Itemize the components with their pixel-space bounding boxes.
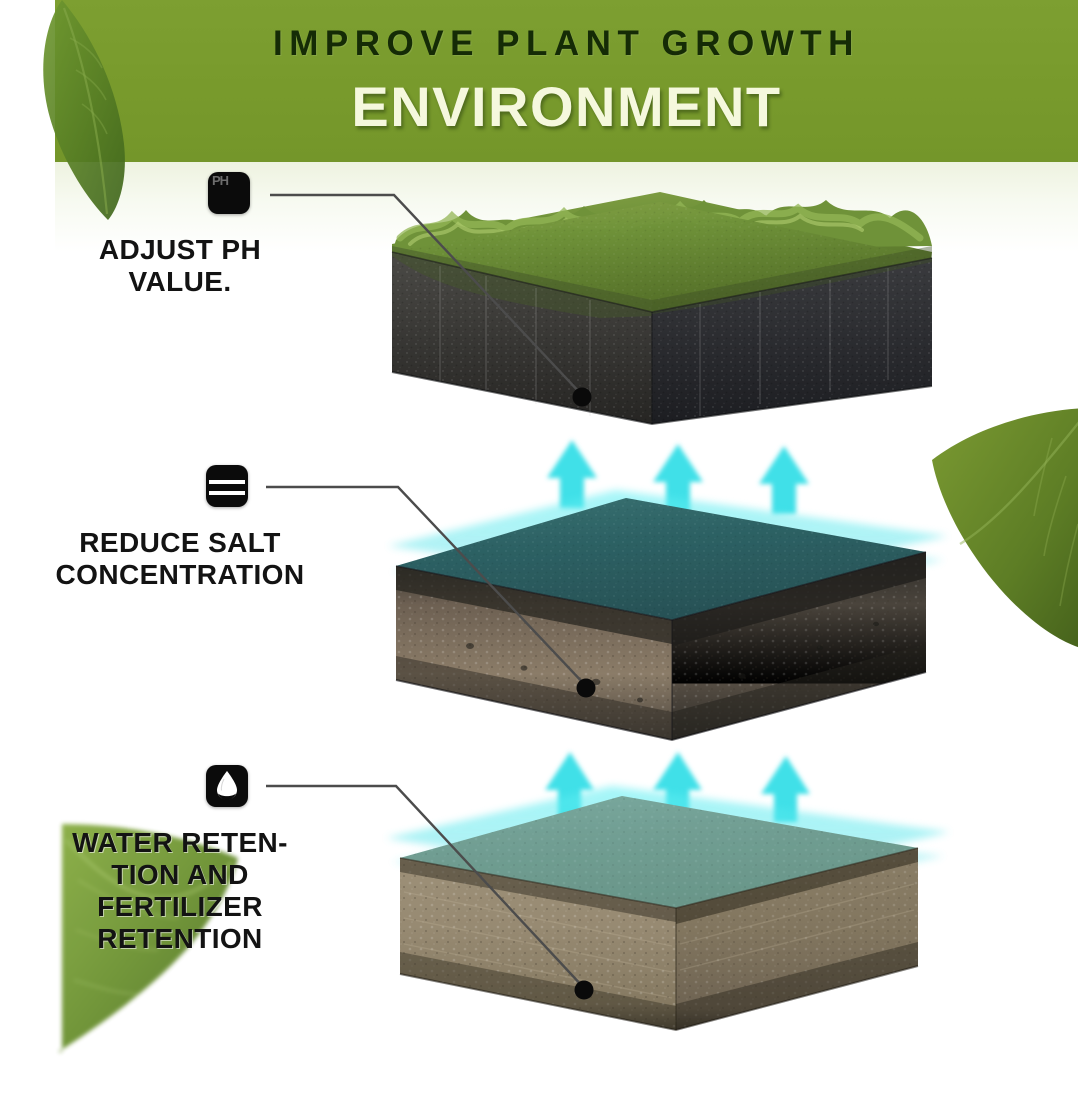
block-adjust-ph bbox=[392, 192, 932, 424]
cyan-arrows-lower bbox=[545, 752, 810, 822]
header-subtitle: IMPROVE PLANT GROWTH bbox=[55, 24, 1078, 64]
ph-icon[interactable]: PH bbox=[208, 172, 250, 214]
leader-line-reduce-salt bbox=[266, 487, 596, 698]
header-title: ENVIRONMENT bbox=[55, 74, 1078, 139]
layers-icon[interactable] bbox=[206, 465, 248, 507]
water-drop-glyph bbox=[215, 770, 239, 801]
label-text-water-retention: WATER RETEN- TION AND FERTILIZER RETENTI… bbox=[0, 827, 360, 955]
layers-icon-bars bbox=[209, 473, 245, 499]
label-text-reduce-salt: REDUCE SALT CONCENTRATION bbox=[0, 527, 360, 591]
infographic-page: IMPROVE PLANT GROWTH ENVIRONMENT bbox=[0, 0, 1078, 1113]
leader-line-adjust-ph bbox=[270, 195, 592, 407]
block-water-retention bbox=[386, 786, 950, 1030]
ph-icon-glyph: PH bbox=[212, 173, 228, 188]
label-text-adjust-ph: ADJUST PH VALUE. bbox=[0, 234, 360, 298]
cyan-arrows-upper bbox=[547, 440, 809, 514]
header-band: IMPROVE PLANT GROWTH ENVIRONMENT bbox=[55, 0, 1078, 162]
water-drop-icon[interactable] bbox=[206, 765, 248, 807]
leaf-icon-right bbox=[902, 398, 1078, 668]
block-reduce-salt bbox=[388, 490, 948, 740]
